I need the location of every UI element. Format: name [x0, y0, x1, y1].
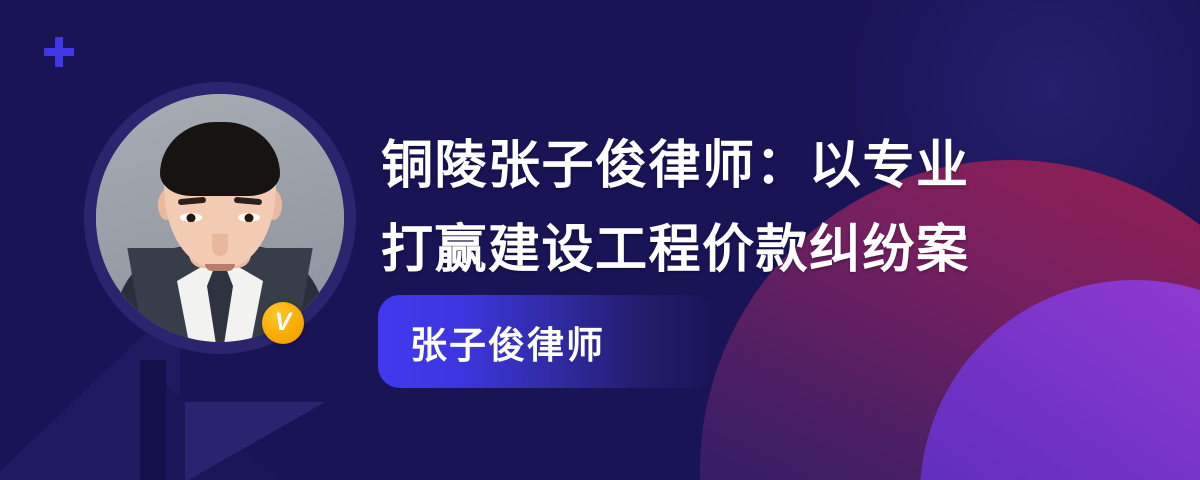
wedge-shape	[160, 380, 280, 480]
bar-shape-left	[140, 360, 166, 480]
lawyer-promo-banner: V 铜陵张子俊律师：以专业 打赢建设工程价款纠纷案 张子俊律师	[0, 0, 1200, 480]
avatar: V	[84, 82, 356, 354]
verified-badge-icon: V	[262, 302, 304, 344]
headline-block: 铜陵张子俊律师：以专业 打赢建设工程价款纠纷案	[381, 124, 1101, 292]
lawyer-name-badge: 张子俊律师	[378, 295, 713, 388]
avatar-photo	[96, 94, 344, 342]
portrait-nose	[212, 234, 228, 256]
plus-icon	[44, 37, 74, 67]
portrait-eye-right	[238, 213, 260, 222]
portrait-mouth	[205, 264, 235, 271]
portrait-eye-left	[180, 213, 202, 222]
circle-shape-purple	[920, 280, 1200, 480]
headline-line-2: 打赢建设工程价款纠纷案	[381, 208, 1101, 292]
triangle-shape-mid	[185, 402, 325, 480]
verified-badge-glyph: V	[275, 310, 292, 335]
headline-line-1: 铜陵张子俊律师：以专业	[381, 124, 1101, 208]
lawyer-name-label: 张子俊律师	[410, 315, 605, 369]
